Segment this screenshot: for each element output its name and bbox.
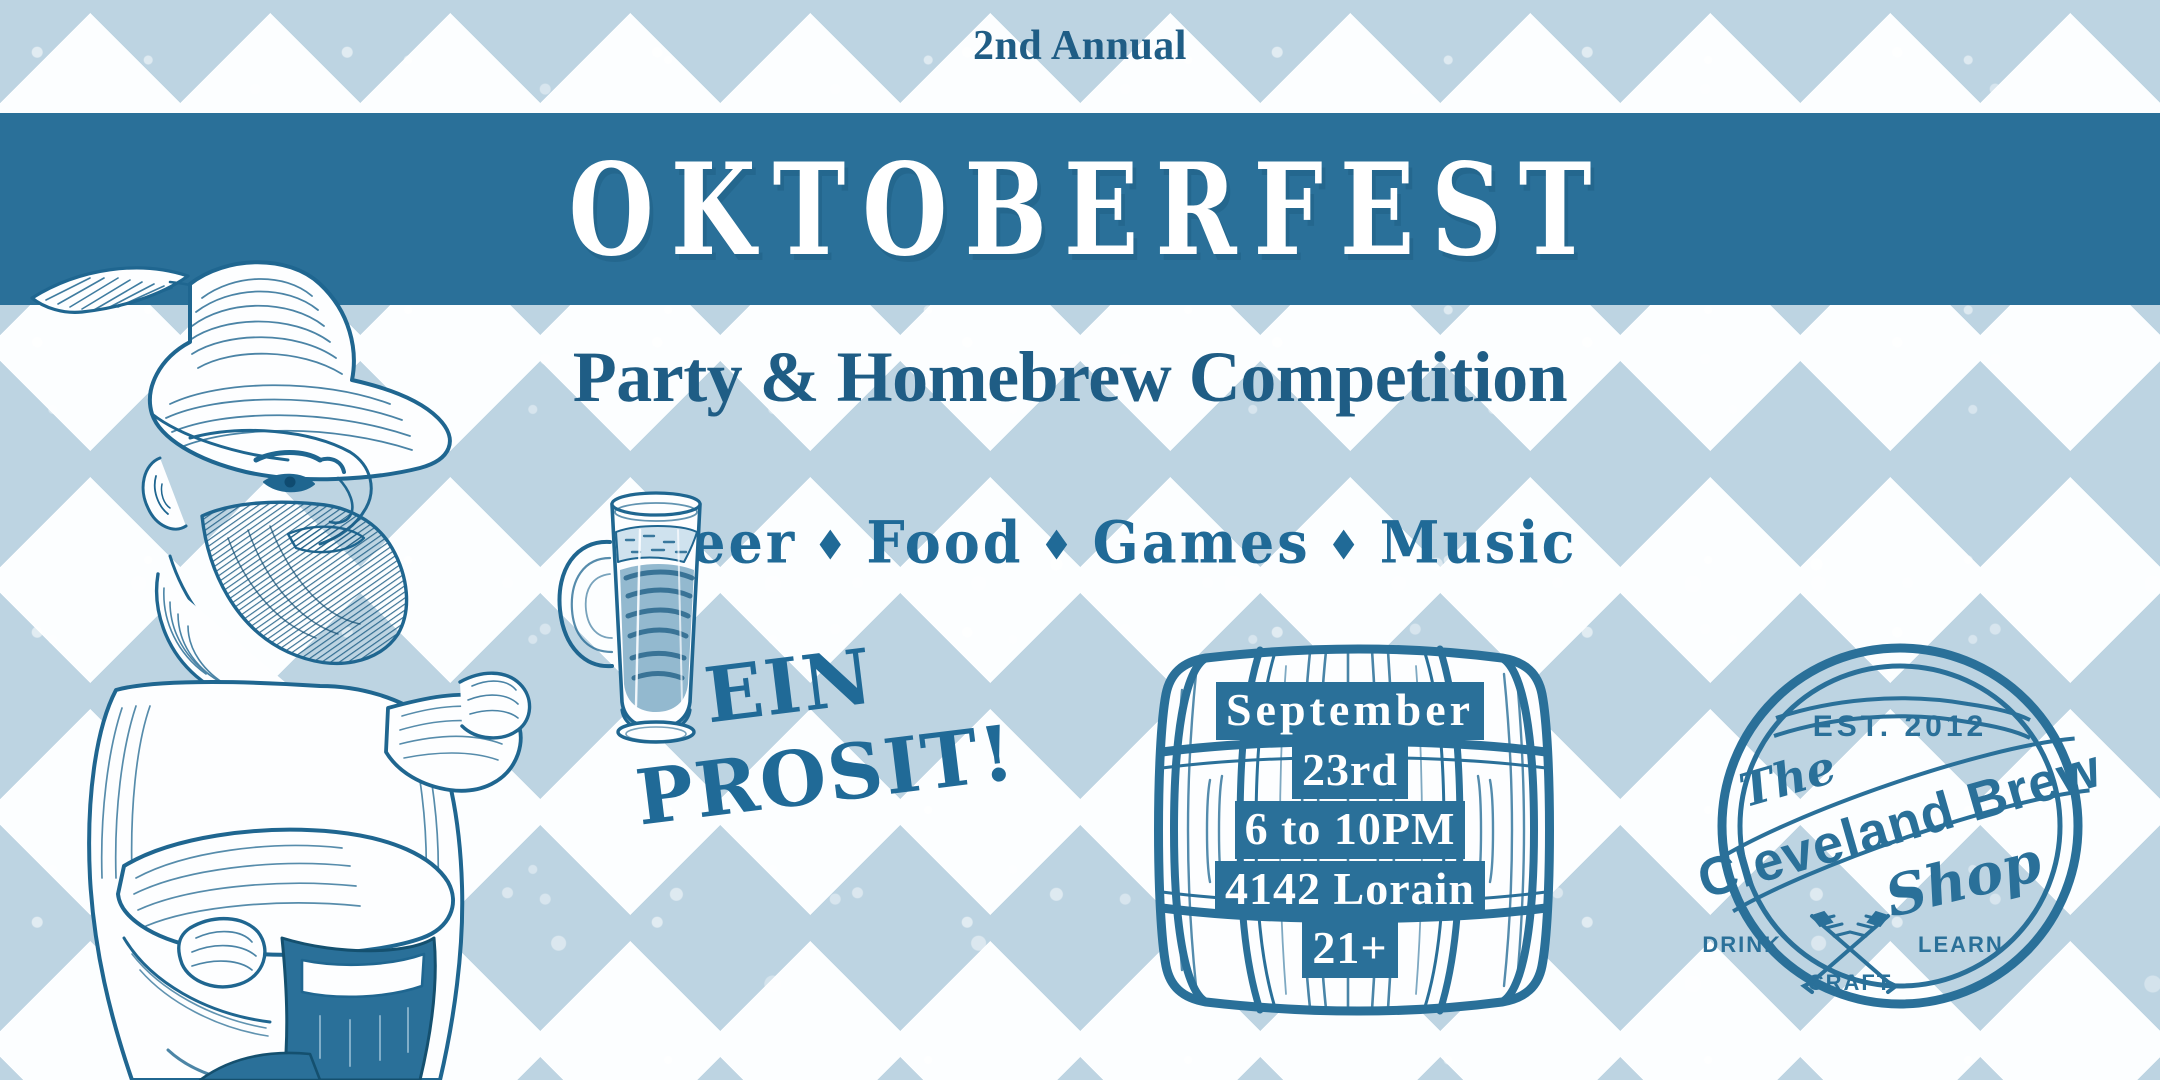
feature-music: Music <box>1378 507 1580 576</box>
subtitle-text: Party & Homebrew Competition <box>380 336 1760 419</box>
logo-tag-learn: LEARN <box>1918 932 2004 957</box>
event-time: 6 to 10PM <box>1235 801 1466 859</box>
event-day: 23rd <box>1292 742 1408 800</box>
cleveland-brew-shop-logo: EST. 2012 The Cleveland Brew Shop DRINK … <box>1700 630 2100 1020</box>
event-address: 4142 Lorain <box>1215 861 1485 919</box>
event-age-limit: 21+ <box>1302 920 1397 978</box>
page-title: OKTOBERFEST <box>552 134 1609 284</box>
feature-games: Games <box>1091 507 1313 576</box>
bavarian-man-illustration <box>20 238 580 1080</box>
diamond-separator-icon: ♦ <box>1313 520 1378 569</box>
event-month: September <box>1216 682 1484 740</box>
oktoberfest-banner: 2nd Annual OKTOBERFEST Party & Homebrew … <box>0 0 2160 1080</box>
feature-food: Food <box>864 507 1025 576</box>
diamond-separator-icon: ♦ <box>799 520 864 569</box>
logo-tag-drink: DRINK <box>1702 932 1782 957</box>
eyebrow-text: 2nd Annual <box>0 22 2160 70</box>
logo-established: EST. 2012 <box>1813 710 1987 743</box>
logo-tag-craft: CRAFT <box>1808 970 1893 995</box>
event-details-block: September 23rd 6 to 10PM 4142 Lorain 21+ <box>1110 630 1590 1030</box>
diamond-separator-icon: ♦ <box>1026 520 1091 569</box>
